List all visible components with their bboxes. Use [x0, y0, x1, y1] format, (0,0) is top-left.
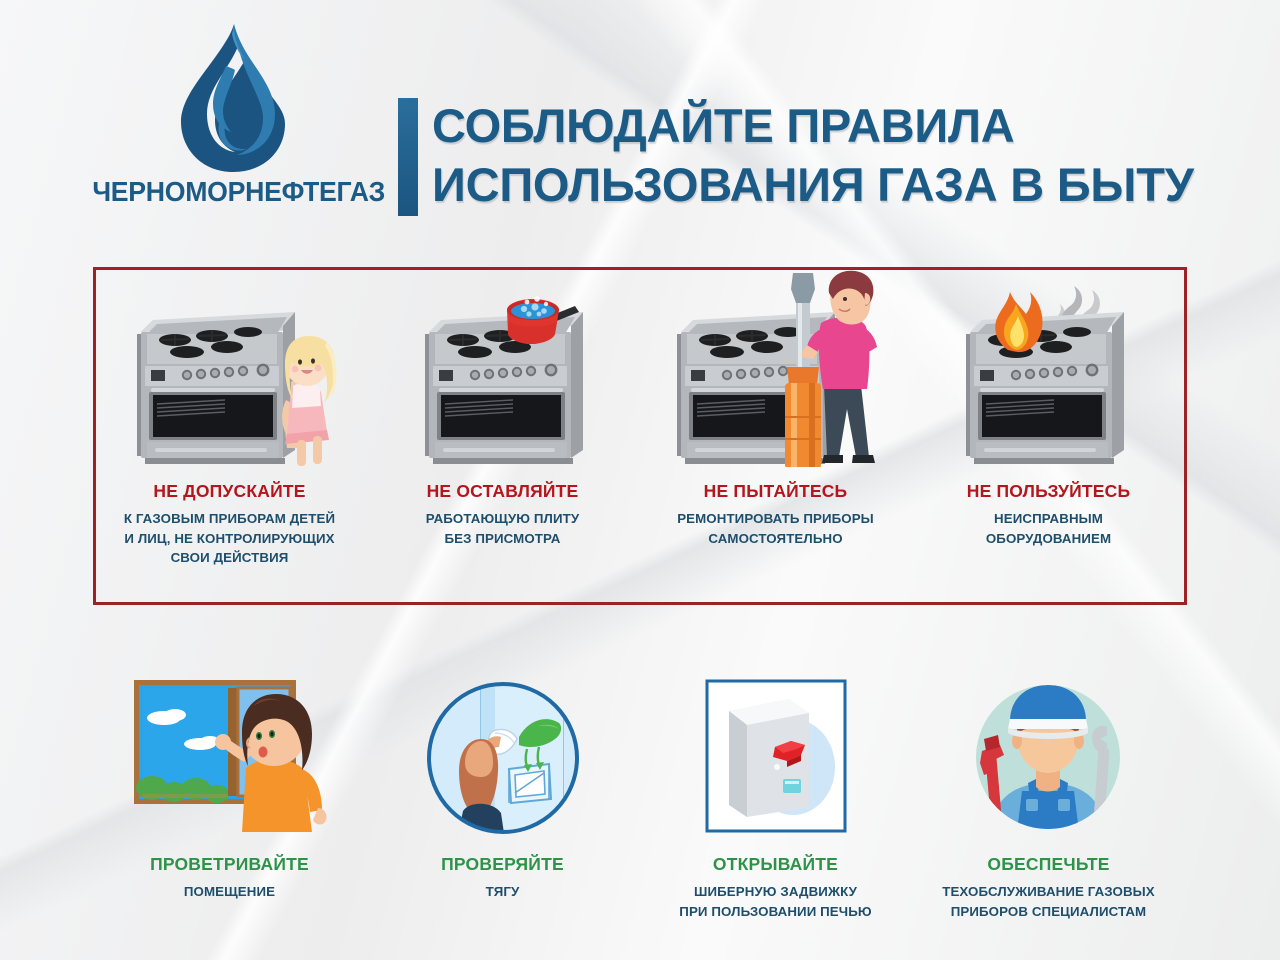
card-subtitle: ТЯГУ	[486, 882, 520, 902]
advice-cards-row: ПРОВЕТРИВАЙТЕ ПОМЕЩЕНИЕ	[93, 640, 1187, 921]
card-title: ОБЕСПЕЧЬТЕ	[987, 854, 1109, 875]
warning-card: НЕ ДОПУСКАЙТЕ К ГАЗОВЫМ ПРИБОРАМ ДЕТЕЙ И…	[93, 267, 366, 568]
brand-name: ЧЕРНОМОРНЕФТЕГАЗ	[92, 176, 373, 208]
warning-card: НЕ ПОЛЬЗУЙТЕСЬ НЕИСПРАВНЫМ ОБОРУДОВАНИЕМ	[912, 267, 1185, 568]
advice-card: ОБЕСПЕЧЬТЕ ТЕХОБСЛУЖИВАНИЕ ГАЗОВЫХ ПРИБО…	[912, 640, 1185, 921]
man-repairing-stove-with-screwdriver-icon	[639, 267, 912, 467]
warning-card: НЕ ПЫТАЙТЕСЬ РЕМОНТИРОВАТЬ ПРИБОРЫ САМОС…	[639, 267, 912, 568]
infographic-page: ЧЕРНОМОРНЕФТЕГАЗ СОБЛЮДАЙТЕ ПРАВИЛА ИСПО…	[0, 0, 1280, 960]
card-subtitle: ПОМЕЩЕНИЕ	[184, 882, 275, 902]
card-subtitle: РЕМОНТИРОВАТЬ ПРИБОРЫ САМОСТОЯТЕЛЬНО	[677, 509, 874, 548]
gas-stove-with-child-icon	[93, 267, 366, 467]
card-subtitle: ШИБЕРНУЮ ЗАДВИЖКУ ПРИ ПОЛЬЗОВАНИИ ПЕЧЬЮ	[679, 882, 871, 921]
title-line-2: ИСПОЛЬЗОВАНИЯ ГАЗА В БЫТУ	[432, 155, 1194, 214]
woman-checking-ventilation-draft-icon	[366, 640, 639, 840]
gas-stove-on-fire-with-smoke-icon	[912, 267, 1185, 467]
card-subtitle: НЕИСПРАВНЫМ ОБОРУДОВАНИЕМ	[986, 509, 1111, 548]
card-title: ПРОВЕРЯЙТЕ	[441, 854, 564, 875]
card-subtitle: ТЕХОБСЛУЖИВАНИЕ ГАЗОВЫХ ПРИБОРОВ СПЕЦИАЛ…	[942, 882, 1155, 921]
card-title: НЕ ДОПУСКАЙТЕ	[153, 481, 305, 502]
card-subtitle: К ГАЗОВЫМ ПРИБОРАМ ДЕТЕЙ И ЛИЦ, НЕ КОНТР…	[124, 509, 335, 568]
title-accent-bar	[398, 98, 418, 216]
card-title: НЕ ПЫТАЙТЕСЬ	[704, 481, 848, 502]
header: ЧЕРНОМОРНЕФТЕГАЗ СОБЛЮДАЙТЕ ПРАВИЛА ИСПО…	[0, 0, 1280, 250]
card-title: ОТКРЫВАЙТЕ	[713, 854, 838, 875]
card-subtitle: РАБОТАЮЩУЮ ПЛИТУ БЕЗ ПРИСМОТРА	[426, 509, 579, 548]
warning-cards-row: НЕ ДОПУСКАЙТЕ К ГАЗОВЫМ ПРИБОРАМ ДЕТЕЙ И…	[93, 267, 1187, 568]
flame-water-drop-icon	[177, 22, 289, 172]
advice-card: ПРОВЕТРИВАЙТЕ ПОМЕЩЕНИЕ	[93, 640, 366, 921]
advice-card: ОТКРЫВАЙТЕ ШИБЕРНУЮ ЗАДВИЖКУ ПРИ ПОЛЬЗОВ…	[639, 640, 912, 921]
card-title: НЕ ОСТАВЛЯЙТЕ	[427, 481, 579, 502]
gas-stove-with-boiling-pan-icon	[366, 267, 639, 467]
boy-opening-window-icon	[93, 640, 366, 840]
card-title: ПРОВЕТРИВАЙТЕ	[150, 854, 309, 875]
title-line-1: СОБЛЮДАЙТЕ ПРАВИЛА	[432, 96, 1194, 155]
advice-card: ПРОВЕРЯЙТЕ ТЯГУ	[366, 640, 639, 921]
gas-technician-with-wrenches-icon	[912, 640, 1185, 840]
brand-logo: ЧЕРНОМОРНЕФТЕГАЗ	[88, 22, 378, 208]
page-title: СОБЛЮДАЙТЕ ПРАВИЛА ИСПОЛЬЗОВАНИЯ ГАЗА В …	[398, 96, 1194, 216]
boiler-damper-valve-icon	[639, 640, 912, 840]
warning-card: НЕ ОСТАВЛЯЙТЕ РАБОТАЮЩУЮ ПЛИТУ БЕЗ ПРИСМ…	[366, 267, 639, 568]
card-title: НЕ ПОЛЬЗУЙТЕСЬ	[967, 481, 1131, 502]
